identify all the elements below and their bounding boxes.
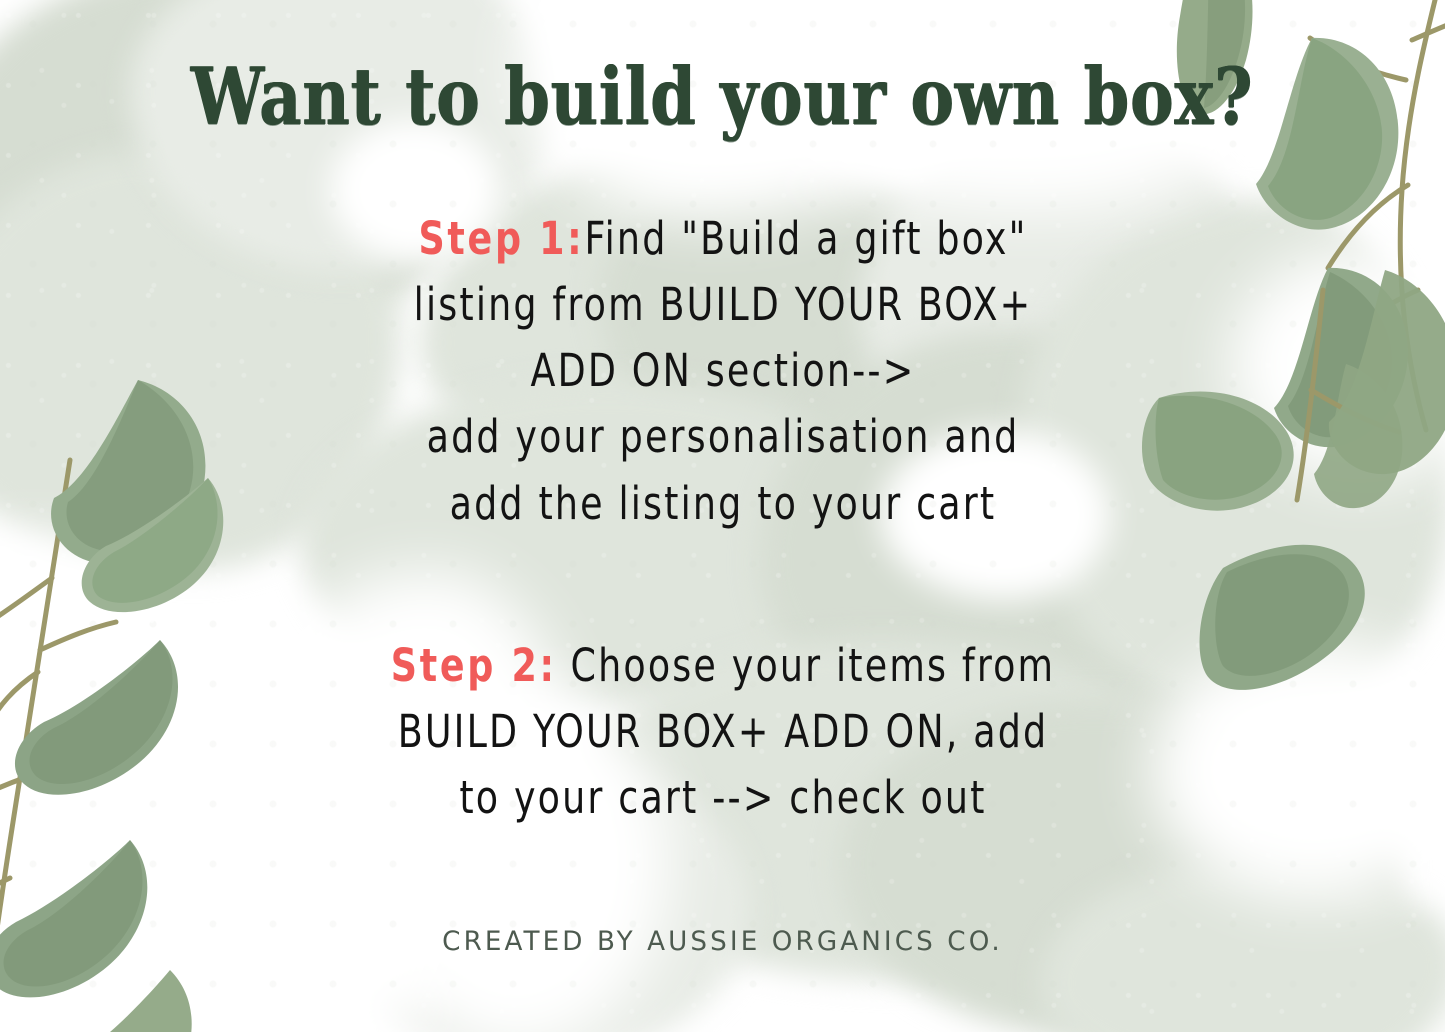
step1-line-2: listing from BUILD YOUR BOX+ (273, 272, 1173, 338)
poster-content: Want to build your own box? Step 1:Find … (0, 0, 1445, 1032)
step1-line-1-text: Find "Build a gift box" (584, 212, 1027, 265)
step1-line-5: add the listing to your cart (273, 471, 1173, 537)
step2-line-2: BUILD YOUR BOX+ ADD ON, add (273, 699, 1173, 765)
steps-container: Step 1:Find "Build a gift box" listing f… (223, 206, 1223, 831)
step2-line-1: Step 2: Choose your items from (273, 633, 1173, 699)
step1-line-4: add your personalisation and (273, 404, 1173, 470)
credit-line: CREATED BY AUSSIE ORGANICS CO. (22, 926, 1424, 957)
page-title: Want to build your own box? (191, 58, 1253, 136)
step-block-1: Step 1:Find "Build a gift box" listing f… (223, 206, 1223, 537)
step1-line-1: Step 1:Find "Build a gift box" (273, 206, 1173, 272)
step1-label: Step 1: (418, 212, 584, 265)
step2-line-1-text: Choose your items from (570, 639, 1055, 692)
step-block-2: Step 2: Choose your items from BUILD YOU… (223, 633, 1223, 831)
step2-line-3: to your cart --> check out (273, 765, 1173, 831)
poster-canvas: Want to build your own box? Step 1:Find … (0, 0, 1445, 1032)
step1-line-3: ADD ON section--> (273, 338, 1173, 404)
step2-label: Step 2: (390, 639, 556, 692)
